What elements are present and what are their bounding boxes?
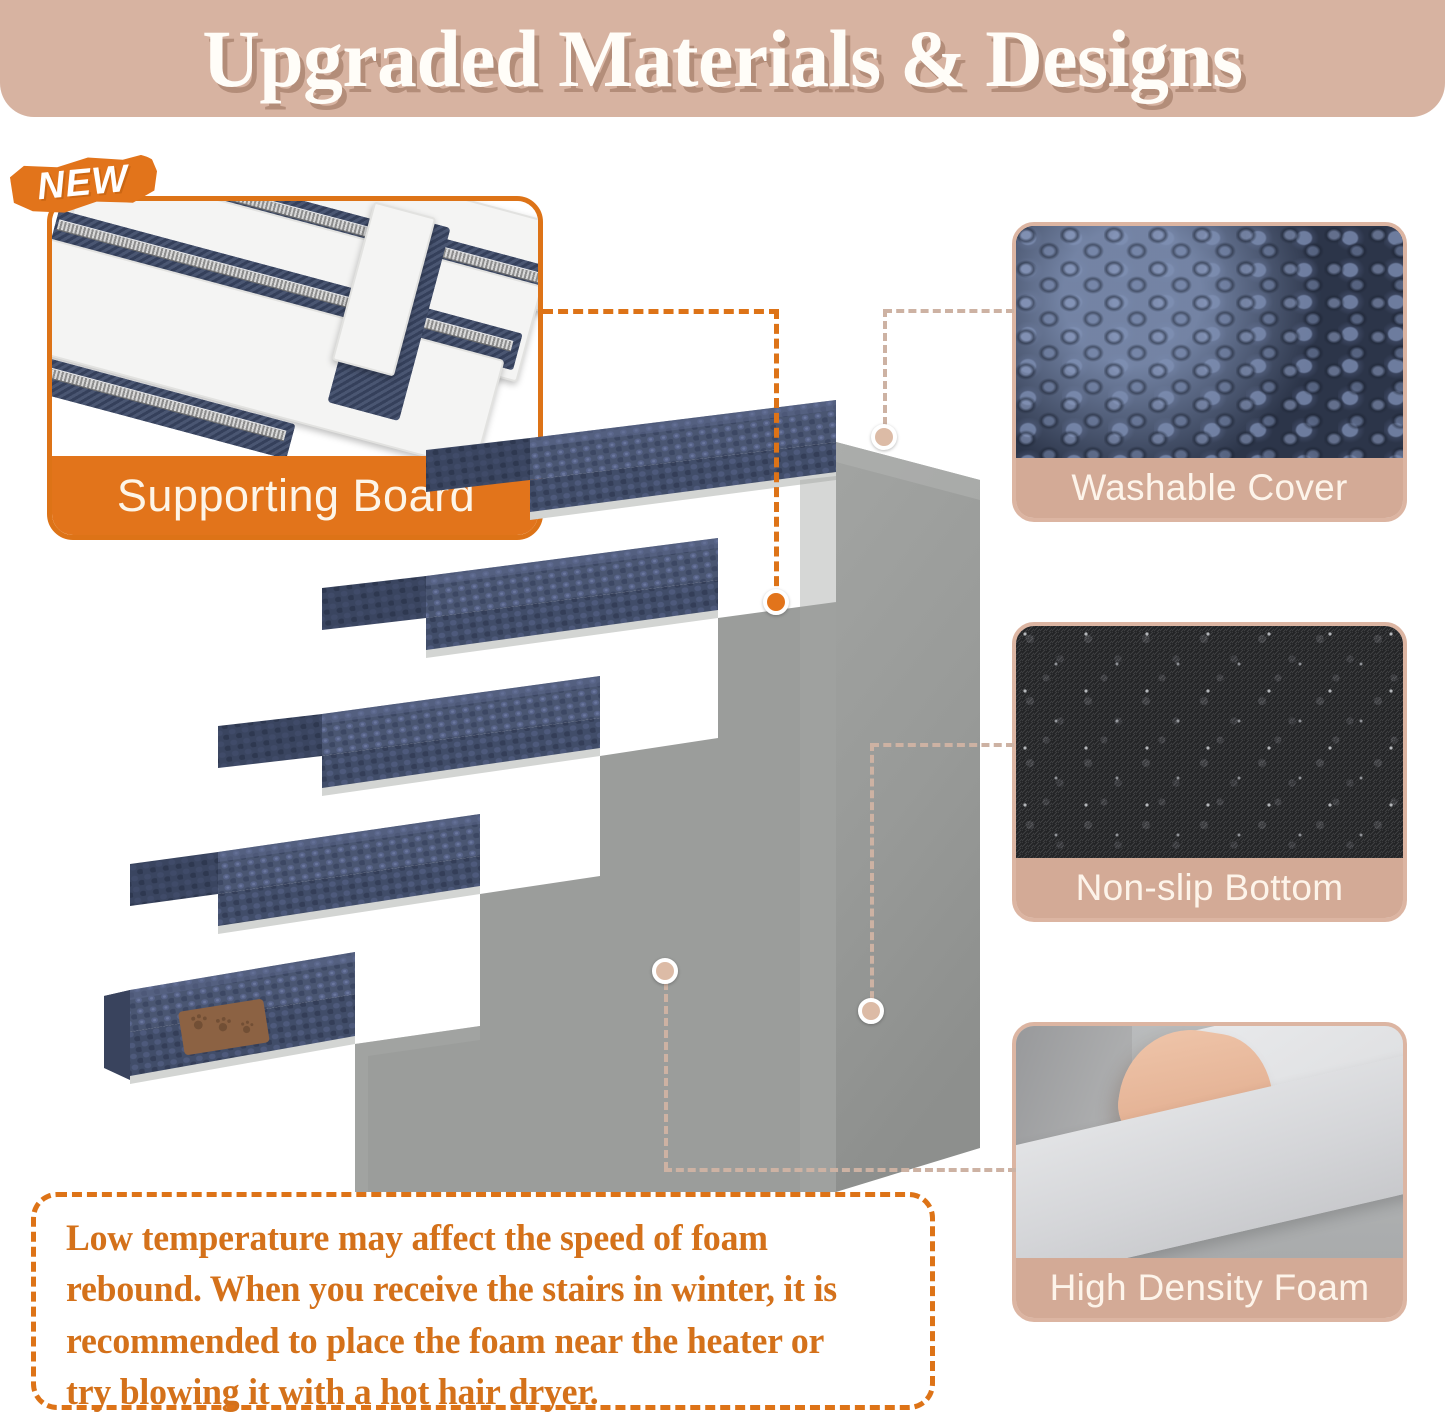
knit-fabric-texture xyxy=(1016,226,1403,458)
warning-text: Low temperature may affect the speed of … xyxy=(66,1213,873,1419)
connector-washable-cover-horizontal xyxy=(884,309,1014,313)
hotspot-supporting-board xyxy=(763,589,789,615)
hotspot-non-slip-bottom xyxy=(858,998,884,1024)
connector-washable-cover-vertical xyxy=(883,309,887,437)
connector-non-slip-horizontal xyxy=(871,743,1014,747)
non-slip-bottom-photo xyxy=(1016,626,1403,858)
foam-photo-texture xyxy=(1016,1026,1403,1258)
connector-non-slip-vertical xyxy=(870,743,874,1011)
step-2 xyxy=(130,814,480,934)
stairs-side-panel xyxy=(836,442,980,1192)
high-density-foam-photo xyxy=(1016,1026,1403,1258)
hotspot-high-density-foam xyxy=(652,958,678,984)
non-slip-fabric-texture xyxy=(1016,626,1403,858)
step-3 xyxy=(218,676,600,796)
connector-foam-vertical xyxy=(664,982,668,1170)
hotspot-washable-cover xyxy=(871,424,897,450)
non-slip-bottom-label: Non-slip Bottom xyxy=(1016,858,1403,918)
feature-card-non-slip-bottom: Non-slip Bottom xyxy=(1012,622,1407,922)
step-4 xyxy=(322,538,718,658)
connector-supporting-board-vertical xyxy=(774,309,779,601)
washable-cover-photo xyxy=(1016,226,1403,458)
header-banner: Upgraded Materials & Designs xyxy=(0,0,1445,117)
warning-callout: Low temperature may affect the speed of … xyxy=(31,1192,935,1410)
feature-card-high-density-foam: High Density Foam xyxy=(1012,1022,1407,1322)
page-title: Upgraded Materials & Designs xyxy=(22,0,1424,117)
high-density-foam-label: High Density Foam xyxy=(1016,1258,1403,1318)
pet-stairs-illustration xyxy=(100,380,980,1210)
feature-card-washable-cover: Washable Cover xyxy=(1012,222,1407,522)
connector-foam-horizontal xyxy=(664,1168,1016,1172)
washable-cover-label: Washable Cover xyxy=(1016,458,1403,518)
connector-supporting-board-horizontal xyxy=(543,309,779,314)
